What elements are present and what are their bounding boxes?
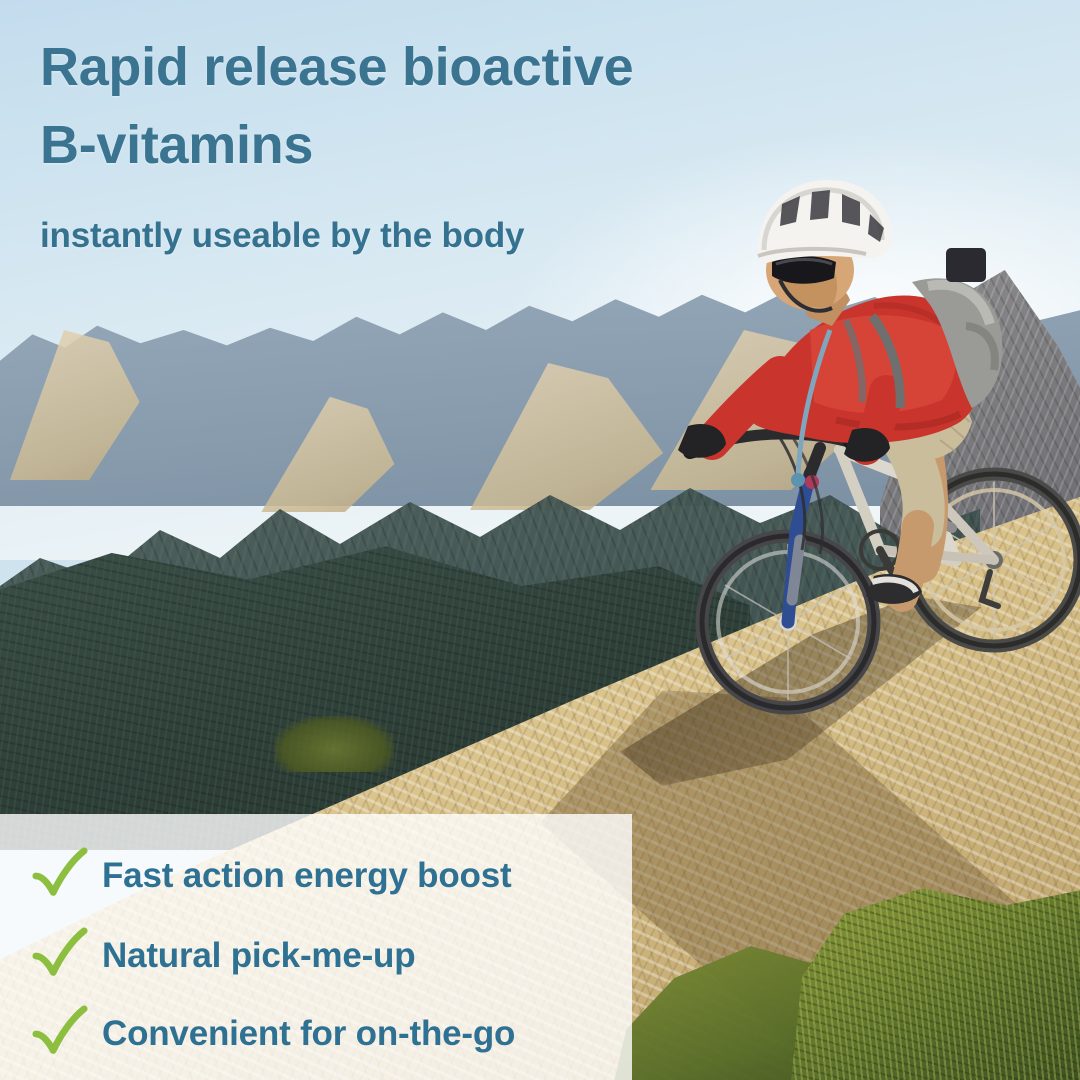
list-item: Natural pick-me-up <box>0 918 632 994</box>
mountain-bike <box>690 416 1080 708</box>
page-title: Rapid release bioactive B-vitamins <box>40 28 820 184</box>
backpack-top <box>946 248 986 282</box>
advertisement-canvas: Rapid release bioactive B-vitamins insta… <box>0 0 1080 1080</box>
list-item: Fast action energy boost <box>0 838 632 914</box>
check-icon <box>22 1001 98 1067</box>
subheadline: instantly useable by the body <box>40 216 800 256</box>
small-bush <box>274 716 394 772</box>
benefit-label: Fast action energy boost <box>102 856 511 896</box>
headline-line-1: Rapid release bioactive <box>40 37 633 97</box>
benefit-label: Natural pick-me-up <box>102 936 415 976</box>
list-item: Convenient for on-the-go <box>0 996 632 1072</box>
check-icon <box>22 843 98 909</box>
benefit-label: Convenient for on-the-go <box>102 1014 515 1054</box>
check-icon <box>22 923 98 989</box>
headline-line-2: B-vitamins <box>40 106 820 184</box>
